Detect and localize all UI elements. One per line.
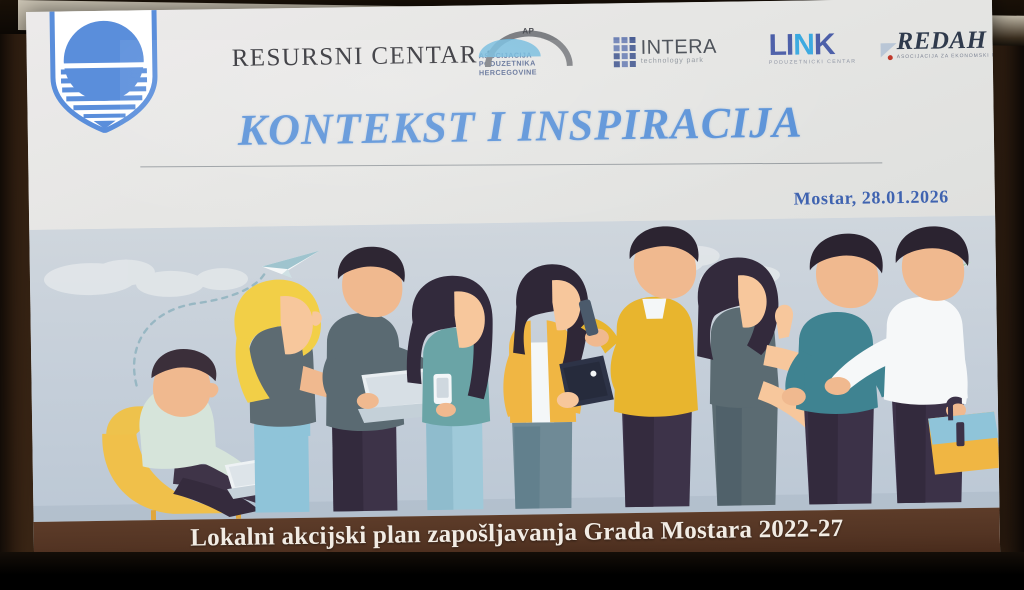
slide-header: RESURSNI CENTAR : AP ASOCIJACIJA PODUZET… [26, 0, 995, 230]
wall-bottom-shadow [0, 552, 1024, 590]
intera-wordmark: INTERA [640, 38, 717, 58]
intera-grid-icon [613, 37, 635, 67]
presentation-slide: RESURSNI CENTAR : AP ASOCIJACIJA PODUZET… [26, 0, 1000, 570]
redah-tagline: ASOCIJACIJA ZA EKONOMSKI RAZVOJ [897, 52, 1000, 60]
partner-logo-strip: AP ASOCIJACIJA PODUZETNIKA HERCEGOVINE [478, 22, 979, 91]
slide-date-line: Mostar, 28.01.2026 [794, 186, 949, 209]
link-wordmark: LINK [768, 30, 863, 61]
ap-line-3: HERCEGOVINE [479, 67, 589, 77]
resursni-centar-label: RESURSNI CENTAR : [232, 41, 494, 73]
redah-dot-icon [888, 55, 893, 60]
ap-mark-text: AP [522, 26, 534, 35]
slide-caption-text: Lokalni akcijski plan zapošljavanja Grad… [34, 513, 1000, 555]
title-divider-rule [140, 162, 882, 167]
projection-room: RESURSNI CENTAR : AP ASOCIJACIJA PODUZET… [0, 0, 1024, 590]
link-accent: N [793, 28, 814, 61]
slide-title: KONTEKST I INSPIRACIJA [237, 94, 938, 155]
logo-ap-hercegovine: AP ASOCIJACIJA PODUZETNIKA HERCEGOVINE [478, 28, 589, 78]
link-head: LI [768, 29, 793, 62]
link-tail: K [814, 28, 835, 61]
logo-intera: INTERA technology park [613, 25, 749, 67]
mostar-coat-of-arms-icon [44, 4, 164, 134]
intera-tagline: technology park [641, 57, 717, 65]
slide-illustration [29, 216, 999, 522]
logo-link: LINK PODUZETNICKI CENTAR [768, 24, 864, 66]
logo-redah: REDAH ASOCIJACIJA ZA EKONOMSKI RAZVOJ [896, 21, 1000, 60]
redah-wordmark: REDAH [896, 27, 1000, 54]
